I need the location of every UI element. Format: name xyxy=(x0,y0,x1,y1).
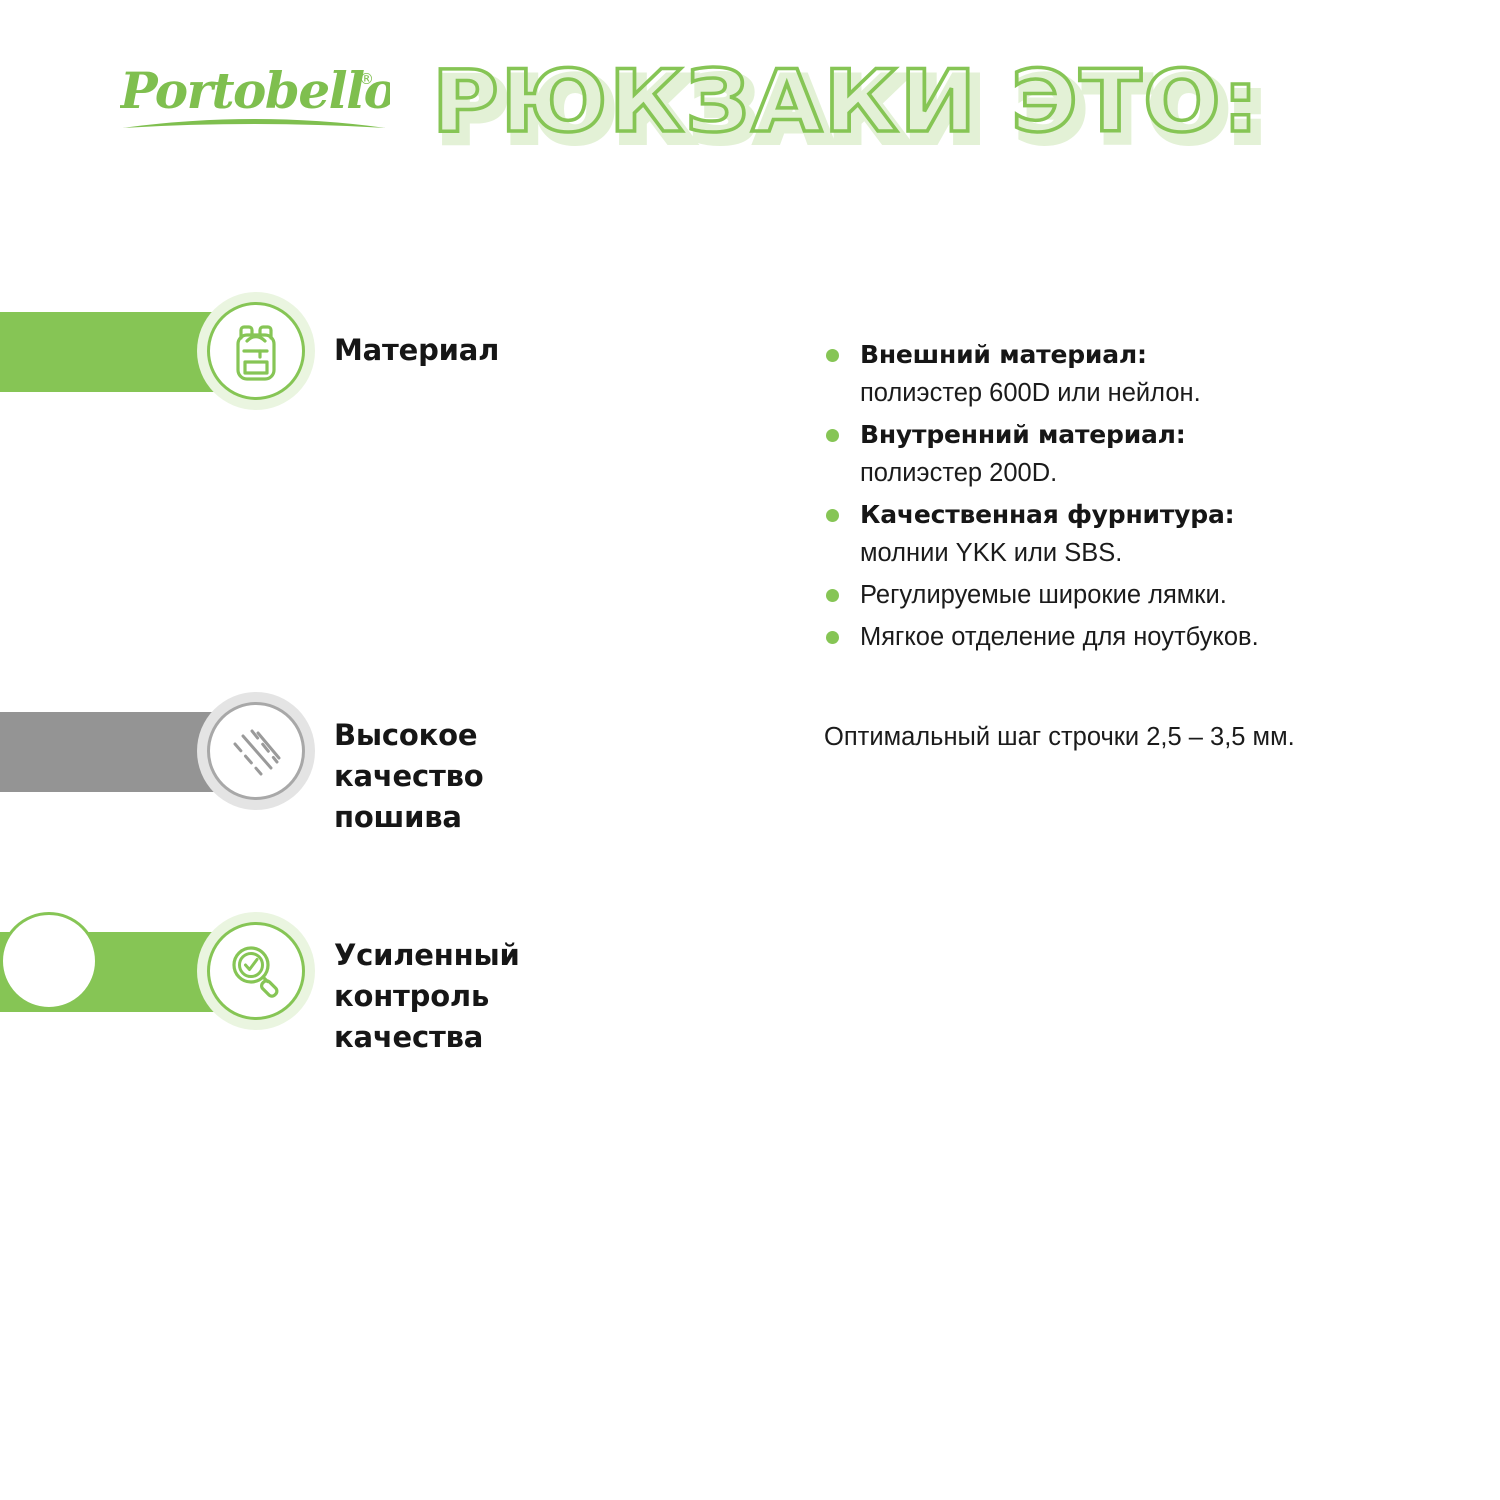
list-item-detail: Регулируемые широкие лямки. xyxy=(860,576,1444,614)
stitching-note: Оптимальный шаг строчки 2,5 – 3,5 мм. xyxy=(824,718,1295,756)
list-item-title: Качественная фурнитура: xyxy=(860,496,1444,534)
list-item-detail: молнии YKK или SBS. xyxy=(860,534,1444,572)
bullet-dot-icon xyxy=(826,509,839,522)
stitching-icon xyxy=(227,722,285,780)
svg-text:Portobello: Portobello xyxy=(120,61,390,120)
section-heading-stitch-quality: Высокое качество пошива xyxy=(334,715,484,838)
list-item-title: Внутренний материал: xyxy=(860,416,1444,454)
portobello-logo-icon: Portobello ® xyxy=(120,58,390,138)
list-item-detail: полиэстер 600D или нейлон. xyxy=(860,374,1444,412)
page-title: РЮКЗАКИ ЭТО: РЮКЗАКИ ЭТО: xyxy=(432,46,1192,158)
list-item-title: Внешний материал: xyxy=(860,336,1444,374)
list-item: Мягкое отделение для ноутбуков. xyxy=(824,618,1444,656)
section-heading-material: Материал xyxy=(334,330,499,371)
page-title-outline: РЮКЗАКИ ЭТО: xyxy=(432,46,1260,158)
list-item: Внешний материал: полиэстер 600D или ней… xyxy=(824,336,1444,412)
icon-disc-quality-control-inner xyxy=(207,922,305,1020)
bullet-dot-icon xyxy=(826,589,839,602)
header: Portobello ® РЮКЗАКИ ЭТО: РЮКЗАКИ ЭТО: xyxy=(0,0,1500,190)
magnifier-check-icon xyxy=(227,942,285,1000)
bullet-dot-icon xyxy=(826,429,839,442)
icon-disc-quality-control xyxy=(0,912,98,1010)
material-bullet-list: Внешний материал: полиэстер 600D или ней… xyxy=(824,336,1444,660)
list-item-detail: Мягкое отделение для ноутбуков. xyxy=(860,618,1444,656)
bullet-dot-icon xyxy=(826,631,839,644)
icon-disc-material xyxy=(207,302,305,400)
list-item-detail: полиэстер 200D. xyxy=(860,454,1444,492)
icon-disc-stitch-quality xyxy=(207,702,305,800)
section-heading-quality-control: Усиленный контроль качества xyxy=(334,935,520,1058)
list-item: Регулируемые широкие лямки. xyxy=(824,576,1444,614)
svg-text:®: ® xyxy=(359,70,374,88)
bullet-dot-icon xyxy=(826,349,839,362)
list-item: Внутренний материал: полиэстер 200D. xyxy=(824,416,1444,492)
backpack-icon xyxy=(227,319,285,383)
list-item: Качественная фурнитура: молнии YKK или S… xyxy=(824,496,1444,572)
brand-logo: Portobello ® xyxy=(120,58,390,138)
